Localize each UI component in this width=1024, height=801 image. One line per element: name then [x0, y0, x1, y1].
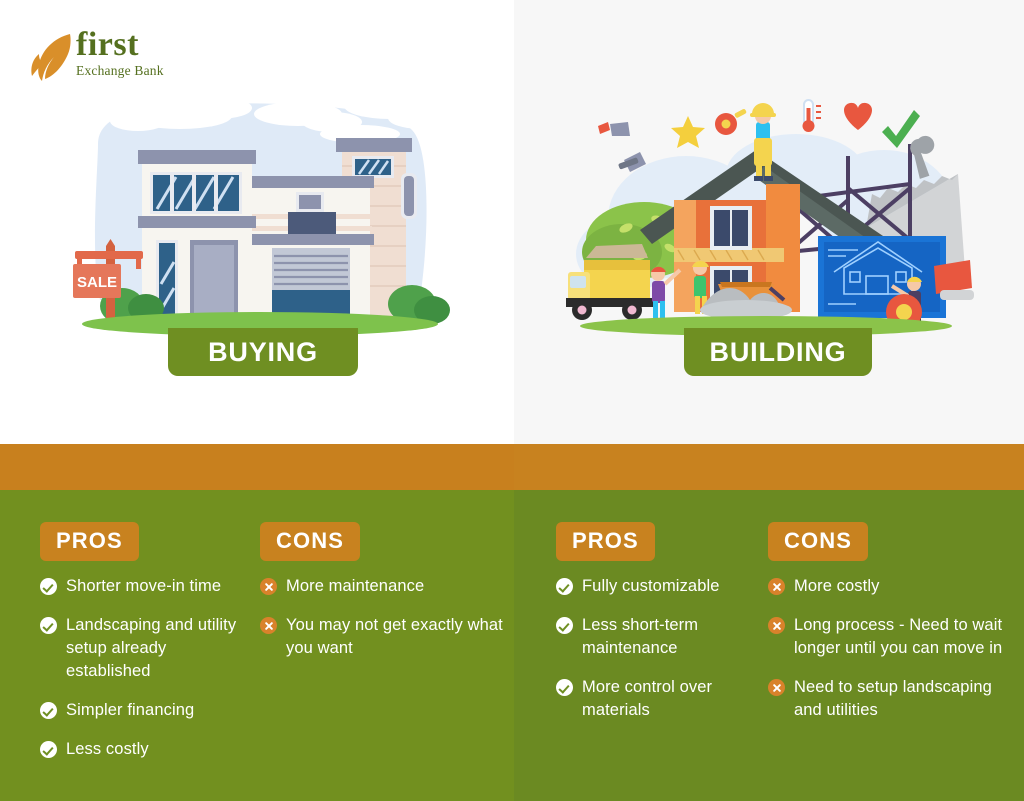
list-item-label: Landscaping and utility setup already es…	[66, 616, 236, 680]
construction-svg	[566, 88, 978, 344]
building-pros-column: PROS Fully customizable Less short-term …	[556, 490, 768, 738]
list-item-label: Long process - Need to wait longer until…	[794, 616, 1002, 657]
list-item: Fully customizable	[556, 575, 768, 598]
building-banner-label: BUILDING	[684, 328, 872, 376]
brand-name-main: first	[76, 28, 208, 62]
orange-band-left	[0, 444, 514, 490]
hammer-head-icon	[610, 122, 630, 136]
feather-leaf-icon	[30, 32, 76, 82]
x-icon	[768, 578, 785, 595]
building-pros-heading: PROS	[556, 522, 655, 561]
list-item-label: Shorter move-in time	[66, 577, 221, 595]
orange-band-right	[514, 444, 1024, 490]
building-pros-list: Fully customizable Less short-term maint…	[556, 575, 768, 722]
list-item: More maintenance	[260, 575, 508, 598]
check-icon	[40, 617, 57, 634]
orange-divider-band	[0, 444, 1024, 490]
list-item: Simpler financing	[40, 699, 252, 722]
x-icon	[768, 679, 785, 696]
check-icon	[40, 702, 57, 719]
list-item-label: Less short-term maintenance	[582, 616, 698, 657]
check-icon	[556, 578, 573, 595]
list-item-label: Less costly	[66, 740, 149, 758]
list-item-label: Simpler financing	[66, 701, 194, 719]
screwdriver-icon	[598, 122, 610, 134]
pros-cons-section: PROS Shorter move-in time Landscaping an…	[0, 490, 1024, 801]
modern-house-svg: SALE	[60, 88, 460, 344]
check-icon	[40, 741, 57, 758]
infographic-page: first Exchange Bank	[0, 0, 1024, 801]
buying-cons-column: CONS More maintenance You may not get ex…	[260, 490, 508, 676]
list-item: Less costly	[40, 738, 252, 761]
check-icon	[556, 617, 573, 634]
buying-cons-list: More maintenance You may not get exactly…	[260, 575, 508, 660]
x-icon	[768, 617, 785, 634]
buying-pros-list: Shorter move-in time Landscaping and uti…	[40, 575, 252, 761]
list-item: Need to setup landscaping and utilities	[768, 676, 1008, 722]
building-cons-list: More costly Long process - Need to wait …	[768, 575, 1008, 722]
brand-logo: first Exchange Bank	[30, 28, 210, 86]
list-item: Shorter move-in time	[40, 575, 252, 598]
building-cons-column: CONS More costly Long process - Need to …	[768, 490, 1008, 738]
x-icon	[260, 617, 277, 634]
building-illustration	[566, 88, 978, 344]
brand-name-sub: Exchange Bank	[76, 63, 208, 79]
list-item-label: Fully customizable	[582, 577, 720, 595]
brand-wordmark: first Exchange Bank	[76, 28, 208, 79]
list-item-label: More costly	[794, 577, 879, 595]
list-item-label: More control over materials	[582, 678, 712, 719]
x-icon	[260, 578, 277, 595]
list-item-label: More maintenance	[286, 577, 424, 595]
list-item: Landscaping and utility setup already es…	[40, 614, 252, 683]
list-item-label: Need to setup landscaping and utilities	[794, 678, 992, 719]
list-item: You may not get exactly what you want	[260, 614, 508, 660]
list-item: Less short-term maintenance	[556, 614, 768, 660]
list-item: More control over materials	[556, 676, 768, 722]
list-item: More costly	[768, 575, 1008, 598]
blueprint-icon	[818, 236, 946, 318]
check-icon	[40, 578, 57, 595]
buying-pros-column: PROS Shorter move-in time Landscaping an…	[40, 490, 252, 777]
check-icon	[556, 679, 573, 696]
illustration-section: first Exchange Bank	[0, 0, 1024, 444]
list-item: Long process - Need to wait longer until…	[768, 614, 1008, 660]
buying-banner-label: BUYING	[168, 328, 358, 376]
thermometer-icon	[803, 100, 822, 132]
buying-pros-heading: PROS	[40, 522, 139, 561]
buying-cons-heading: CONS	[260, 522, 360, 561]
svg-text:SALE: SALE	[77, 274, 117, 291]
building-cons-heading: CONS	[768, 522, 868, 561]
star-icon	[671, 116, 705, 148]
list-item-label: You may not get exactly what you want	[286, 616, 503, 657]
heart-icon	[844, 103, 872, 130]
buying-illustration: SALE	[60, 88, 460, 344]
